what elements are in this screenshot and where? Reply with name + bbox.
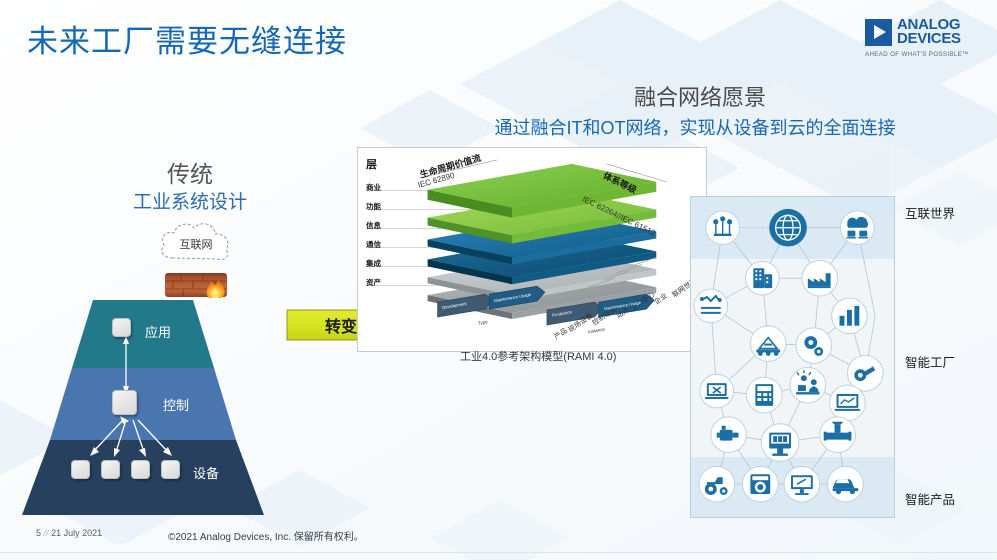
pyramid-level-application xyxy=(72,300,214,368)
pyramid-node-application xyxy=(112,318,131,337)
pyramid-level-control xyxy=(50,368,236,440)
pyramid-node-control xyxy=(112,390,137,415)
vision-title: 融合网络愿景 xyxy=(430,80,970,112)
legacy-subheading: 工业系统设计 xyxy=(30,187,350,214)
adi-triangle-icon xyxy=(865,19,892,46)
pyramid-node-device-4 xyxy=(161,460,180,479)
analog-devices-logo: ANALOG DEVICES AHEAD OF WHAT'S POSSIBLE™ xyxy=(865,18,983,58)
footer-date: 21 July 2021 xyxy=(51,528,102,538)
pyramid-label-application: 应用 xyxy=(145,322,171,341)
logo-tagline: AHEAD OF WHAT'S POSSIBLE™ xyxy=(865,51,983,58)
vision-subtitle: 通过融合IT和OT网络，实现从设备到云的全面连接 xyxy=(400,114,990,140)
pyramid-label-device: 设备 xyxy=(193,463,219,482)
footer-separator: // xyxy=(44,528,49,538)
network-label-smart-factory: 智能工厂 xyxy=(905,352,955,371)
footer-divider xyxy=(0,552,997,553)
rami-panel: 层 商业 功能 信息 通信 集成 资产 xyxy=(357,147,707,352)
network-label-smart-products: 智能产品 xyxy=(905,489,955,508)
pyramid-node-device-3 xyxy=(131,460,150,479)
pyramid-node-device-1 xyxy=(71,460,90,479)
legacy-heading: 传统 xyxy=(30,155,350,189)
pyramid-node-device-2 xyxy=(101,460,120,479)
footer-page-info: 5 // 21 July 2021 xyxy=(36,528,102,538)
legacy-pyramid: 应用 控制 设备 xyxy=(18,300,268,515)
network-graph xyxy=(691,197,894,516)
slide-root: 未来工厂需要无缝连接 ANALOG DEVICES AHEAD OF WHAT'… xyxy=(0,0,997,560)
rami-caption: 工业4.0参考架构模型(RAMI 4.0) xyxy=(460,348,616,364)
logo-line2: DEVICES xyxy=(897,32,961,46)
footer-copyright: ©2021 Analog Devices, Inc. 保留所有权利。 xyxy=(168,528,364,543)
connected-network-panel xyxy=(690,196,895,518)
pyramid-label-control: 控制 xyxy=(163,395,189,414)
network-label-connected-world: 互联世界 xyxy=(905,203,955,222)
firewall-icon xyxy=(163,268,235,302)
internet-cloud-label: 互联网 xyxy=(155,218,237,270)
page-title: 未来工厂需要无缝连接 xyxy=(27,16,347,61)
footer-page-number: 5 xyxy=(36,528,41,538)
